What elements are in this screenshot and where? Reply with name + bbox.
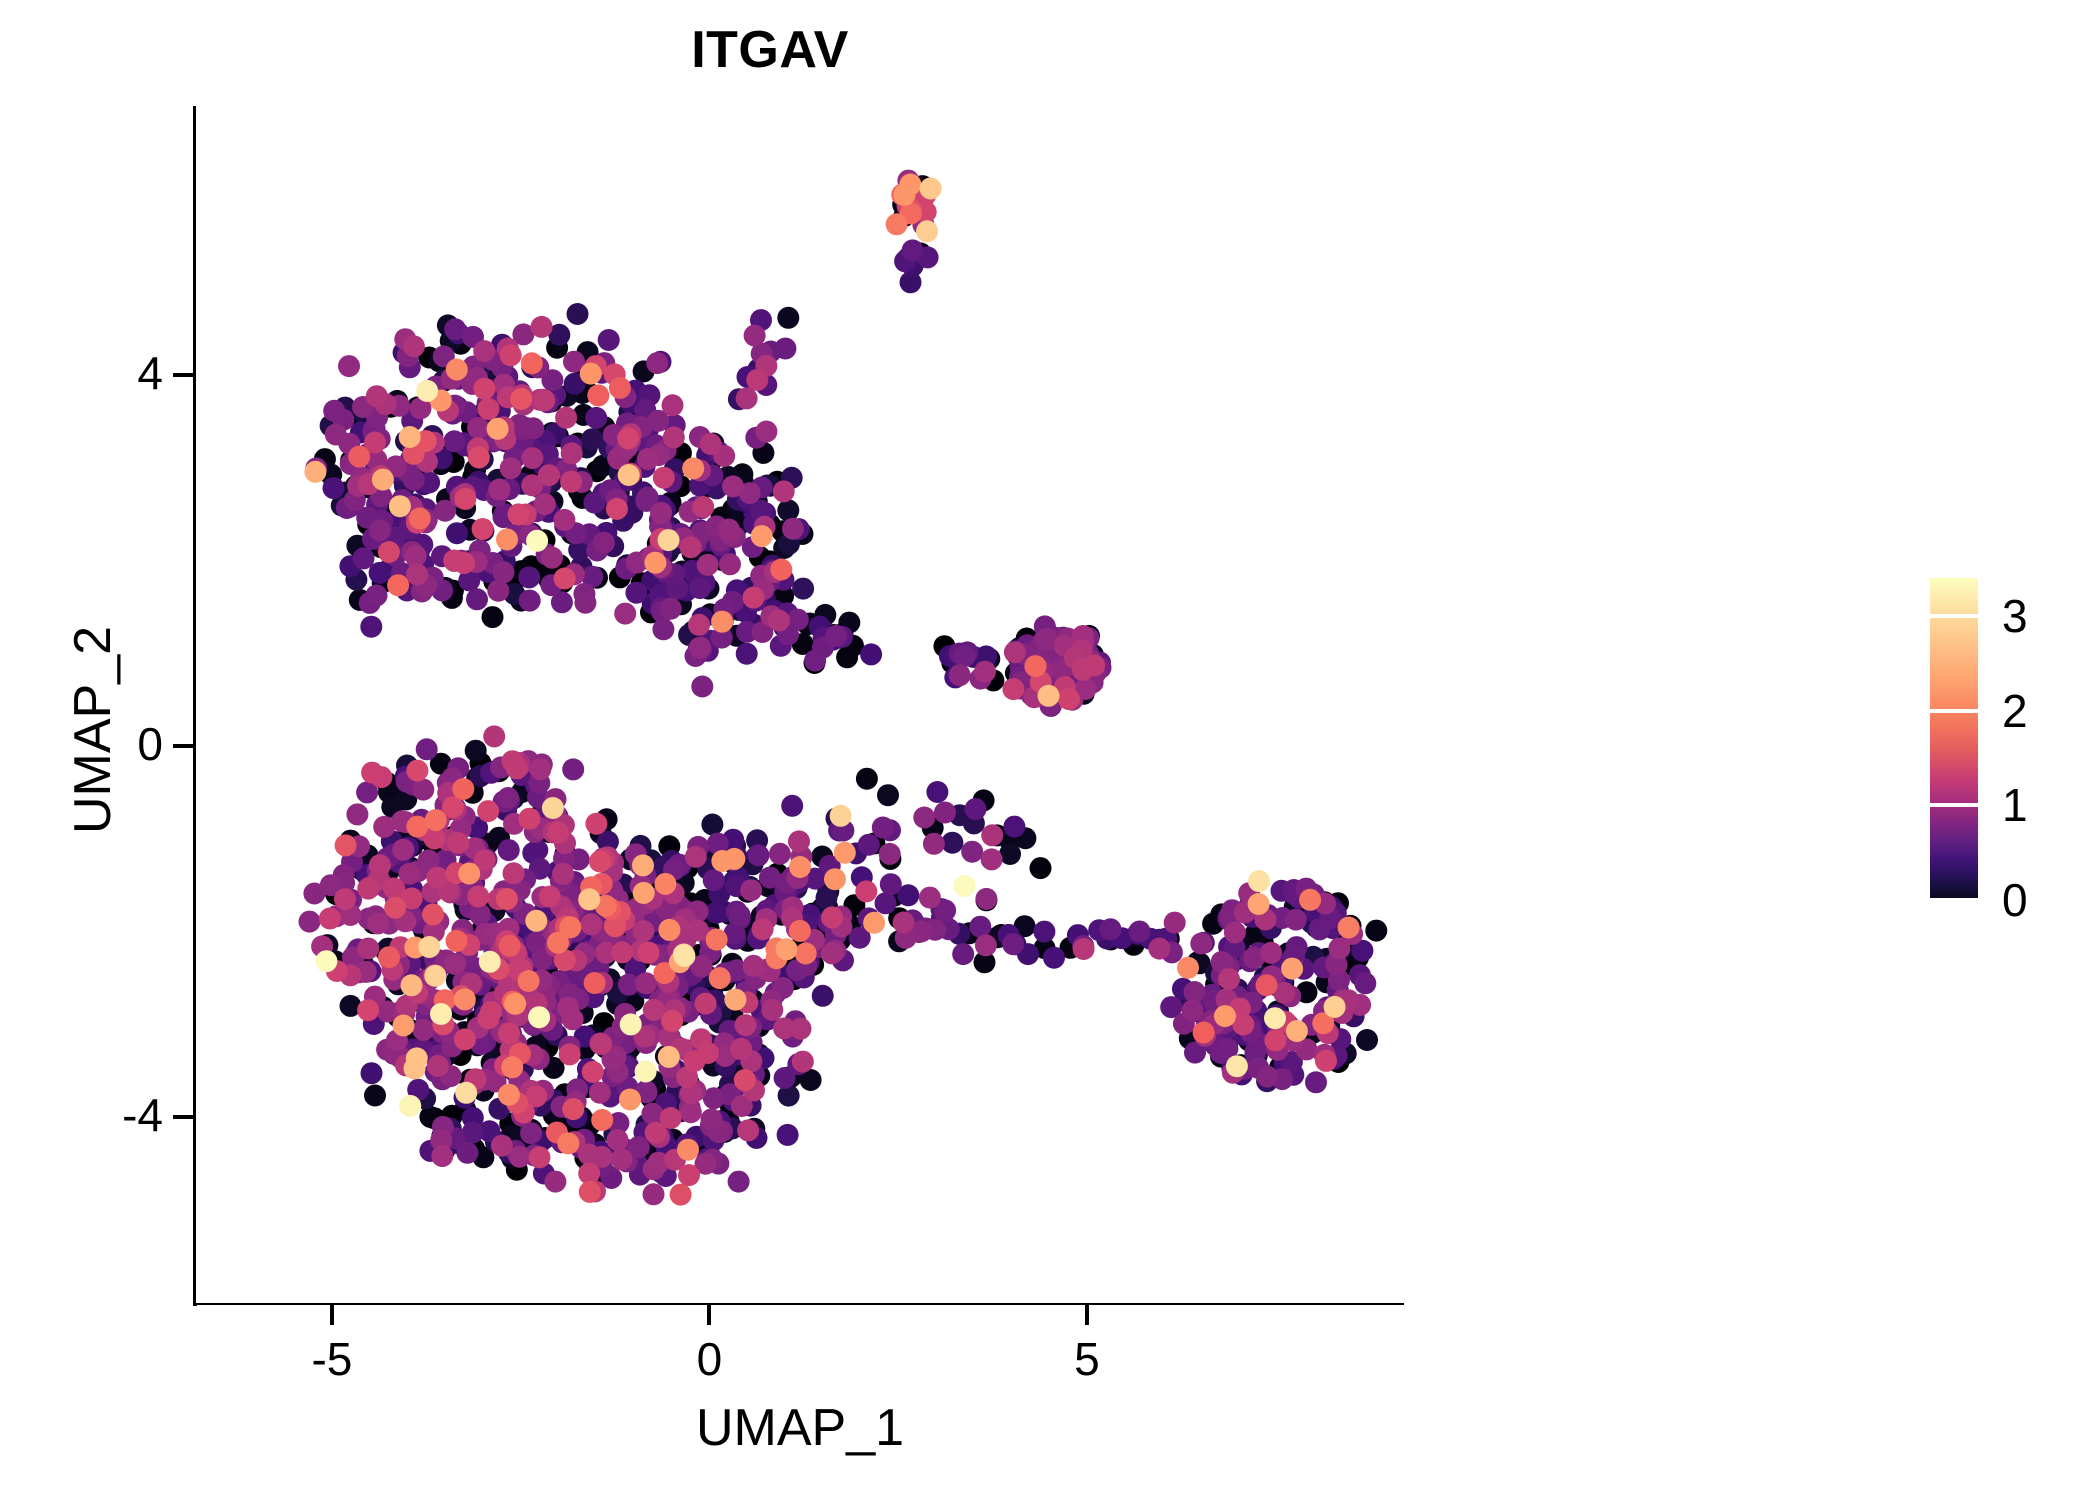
scatter-point (521, 352, 543, 374)
scatter-point (723, 848, 745, 870)
scatter-point (403, 335, 425, 357)
scatter-point (776, 938, 798, 960)
scatter-point (1025, 655, 1047, 677)
scatter-point (1264, 1029, 1286, 1051)
scatter-point (969, 916, 991, 938)
scatter-point (1305, 1071, 1327, 1093)
scatter-point (789, 856, 811, 878)
x-axis-title: UMAP_1 (196, 1398, 1404, 1458)
scatter-point (1256, 1066, 1278, 1088)
scatter-point (695, 993, 717, 1015)
scatter-point (547, 932, 569, 954)
scatter-point (975, 888, 997, 910)
scatter-point (830, 805, 852, 827)
scatter-point (974, 661, 996, 683)
scatter-point (743, 587, 765, 609)
scatter-point (1354, 972, 1376, 994)
scatter-point (1148, 938, 1170, 960)
scatter-point (504, 993, 526, 1015)
scatter-point (860, 643, 882, 665)
scatter-point (680, 536, 702, 558)
scatter-point (858, 834, 880, 856)
scatter-point (501, 1056, 523, 1078)
scatter-point (834, 842, 856, 864)
scatter-point (654, 873, 676, 895)
scatter-point (454, 988, 476, 1010)
scatter-point (1182, 1000, 1204, 1022)
scatter-point (488, 479, 510, 501)
scatter-point (635, 1061, 657, 1083)
scatter-point (361, 1062, 383, 1084)
scatter-point (466, 588, 488, 610)
scatter-point (863, 912, 885, 934)
scatter-point (606, 498, 628, 520)
scatter-point (361, 762, 383, 784)
scatter-point (1218, 968, 1240, 990)
scatter-point (618, 464, 640, 486)
scatter-point (689, 577, 711, 599)
scatter-point (1299, 889, 1321, 911)
scatter-point (378, 541, 400, 563)
y-axis-title: UMAP_2 (63, 330, 123, 1130)
scatter-point (401, 974, 423, 996)
scatter-point (458, 863, 480, 885)
scatter-point (1033, 921, 1055, 943)
scatter-point (692, 496, 714, 518)
scatter-point (353, 547, 375, 569)
scatter-point (1177, 957, 1199, 979)
scatter-point (1004, 641, 1026, 663)
legend-tick-label: 3 (2002, 589, 2028, 643)
scatter-point (334, 888, 356, 910)
legend-colorbar (1930, 578, 1978, 900)
scatter-point (585, 813, 607, 835)
scatter-point (541, 547, 563, 569)
scatter-point (443, 430, 465, 452)
scatter-point (663, 426, 685, 448)
scatter-point (646, 352, 668, 374)
scatter-point (498, 1084, 520, 1106)
scatter-point (416, 380, 438, 402)
scatter-point (562, 1008, 584, 1030)
scatter-point (684, 1050, 706, 1072)
scatter-point (1184, 981, 1206, 1003)
scatter-point (528, 1006, 550, 1028)
scatter-point (574, 592, 596, 614)
scatter-point (709, 967, 731, 989)
scatter-point (641, 1103, 663, 1125)
scatter-point (638, 942, 660, 964)
scatter-point (701, 814, 723, 836)
scatter-point (357, 878, 379, 900)
scatter-point (338, 355, 360, 377)
scatter-point (1073, 938, 1095, 960)
scatter-point (406, 760, 428, 782)
scatter-point (529, 758, 551, 780)
scatter-point (357, 938, 379, 960)
scatter-point (1356, 1029, 1378, 1051)
scatter-point (688, 614, 710, 636)
scatter-point (1038, 685, 1060, 707)
scatter-point (555, 407, 577, 429)
scatter-point (444, 953, 466, 975)
scatter-point (467, 417, 489, 439)
scatter-point (503, 862, 525, 884)
scatter-point (387, 574, 409, 596)
page-title: ITGAV (0, 20, 1540, 80)
scatter-point (617, 427, 639, 449)
scatter-point (1226, 1055, 1248, 1077)
scatter-point (567, 303, 589, 325)
scatter-point (587, 384, 609, 406)
scatter-point (529, 1146, 551, 1168)
scatter-point (730, 1038, 752, 1060)
scatter-point (719, 553, 741, 575)
scatter-point (409, 508, 431, 530)
scatter-point (589, 1082, 611, 1104)
scatter-point (886, 213, 908, 235)
scatter-point (399, 426, 421, 448)
scatter-point (557, 1132, 579, 1154)
scatter-point (477, 398, 499, 420)
scatter-point (579, 1181, 601, 1203)
scatter-point (773, 480, 795, 502)
scatter-point (611, 941, 633, 963)
scatter-point (372, 469, 394, 491)
scatter-point (658, 1046, 680, 1068)
scatter-point (1248, 870, 1270, 892)
scatter-point (795, 943, 817, 965)
scatter-point (625, 582, 647, 604)
scatter-point (418, 936, 440, 958)
scatter-point (711, 611, 733, 633)
scatter-point (473, 378, 495, 400)
scatter-point (542, 797, 564, 819)
scatter-point (682, 457, 704, 479)
color-legend: 3210 (1930, 570, 2090, 910)
scatter-point (697, 554, 719, 576)
scatter-point (744, 325, 766, 347)
scatter-point (920, 178, 942, 200)
scatter-point (1214, 1005, 1236, 1027)
x-tick-label: -5 (272, 1332, 392, 1386)
scatter-point (406, 1047, 428, 1069)
scatter-point (643, 999, 665, 1021)
scatter-point (360, 616, 382, 638)
scatter-point (559, 1043, 581, 1065)
scatter-point (788, 830, 810, 852)
scatter-point (325, 424, 347, 446)
scatter-point (703, 869, 725, 891)
scatter-point (422, 903, 444, 925)
scatter-point (453, 552, 475, 574)
scatter-point (824, 868, 846, 890)
scatter-point (1058, 688, 1080, 710)
scatter-point (1043, 947, 1065, 969)
scatter-point (499, 935, 521, 957)
scatter-point (425, 809, 447, 831)
scatter-point (467, 886, 489, 908)
scatter-point (582, 1061, 604, 1083)
scatter-point (479, 951, 501, 973)
scatter-point (736, 387, 758, 409)
scatter-point (949, 664, 971, 686)
scatter-point (526, 530, 548, 552)
plot-panel (196, 106, 1404, 1303)
scatter-point (812, 985, 834, 1007)
scatter-point (323, 400, 345, 422)
scatter-point (769, 843, 791, 865)
scatter-point (1256, 974, 1278, 996)
scatter-point (1164, 912, 1186, 934)
scatter-point (875, 892, 897, 914)
scatter-point (593, 532, 615, 554)
scatter-point (416, 738, 438, 760)
scatter-point (777, 1124, 799, 1146)
x-tick-mark (330, 1305, 334, 1325)
scatter-point (916, 220, 938, 242)
scatter-point (761, 999, 783, 1021)
scatter-point (662, 394, 684, 416)
scatter-point (691, 676, 713, 698)
scatter-point (755, 421, 777, 443)
scatter-point (589, 851, 611, 873)
scatter-point (430, 1003, 452, 1025)
scatter-point (496, 888, 518, 910)
scatter-point (790, 1018, 812, 1040)
scatter-point (872, 817, 894, 839)
scatter-point (787, 609, 809, 631)
scatter-point (923, 833, 945, 855)
scatter-point (965, 798, 987, 820)
scatter-point (792, 578, 814, 600)
scatter-point (496, 529, 518, 551)
scatter-point (472, 518, 494, 540)
scatter-point (1003, 816, 1025, 838)
scatter-point (521, 447, 543, 469)
scatter-point (1324, 996, 1346, 1018)
scatter-point (743, 955, 765, 977)
scatter-point (643, 1183, 665, 1205)
scatter-point (954, 875, 976, 897)
scatter-point (658, 919, 680, 941)
scatter-point (746, 369, 768, 391)
scatter-point (412, 779, 434, 801)
legend-tick-label: 0 (2002, 873, 2028, 927)
scatter-point (1224, 921, 1246, 943)
scatter-point (498, 839, 520, 861)
scatter-point (369, 519, 391, 541)
scatter-point (880, 873, 902, 895)
scatter-point (952, 943, 974, 965)
scatter-point (770, 559, 792, 581)
scatter-point (877, 784, 899, 806)
scatter-point (591, 1109, 613, 1131)
scatter-point (782, 518, 804, 540)
scatter-point (497, 787, 519, 809)
scatter-point (1002, 933, 1024, 955)
scatter-point (357, 999, 379, 1021)
scatter-point (346, 803, 368, 825)
scatter-point (454, 1028, 476, 1050)
scatter-point (961, 841, 983, 863)
scatter-point (632, 920, 654, 942)
scatter-point (1193, 1022, 1215, 1044)
scatter-point (482, 606, 504, 628)
scatter-point (1328, 937, 1350, 959)
scatter-point (519, 590, 541, 612)
scatter-point (560, 471, 582, 493)
scatter-point (1338, 917, 1360, 939)
scatter-point (1315, 1050, 1337, 1072)
scatter-point (348, 446, 370, 468)
scatter-point (498, 1022, 520, 1044)
scatter-point (975, 934, 997, 956)
scatter-point (752, 918, 774, 940)
scatter-point (477, 1007, 499, 1029)
scatter-point (856, 768, 878, 790)
scatter-point (661, 1010, 683, 1032)
scatter-point (737, 1119, 759, 1141)
scatter-point (607, 1129, 629, 1151)
scatter-point (424, 965, 446, 987)
legend-tick-mark (1930, 898, 1978, 902)
scatter-point (722, 475, 744, 497)
scatter-point (447, 832, 469, 854)
scatter-point (539, 886, 561, 908)
scatter-points-layer (196, 106, 1404, 1303)
scatter-point (1285, 909, 1307, 931)
scatter-point (518, 808, 540, 830)
scatter-point (553, 509, 575, 531)
scatter-point (689, 637, 711, 659)
x-tick-mark (1085, 1305, 1089, 1325)
scatter-point (1083, 654, 1105, 676)
scatter-point (1002, 678, 1024, 700)
scatter-point (718, 519, 740, 541)
scatter-point (500, 344, 522, 366)
scatter-point (477, 800, 499, 822)
scatter-point (777, 499, 799, 521)
scatter-point (652, 618, 674, 640)
scatter-point (366, 385, 388, 407)
scatter-point (619, 1089, 641, 1111)
scatter-point (728, 1171, 750, 1193)
scatter-point (319, 908, 341, 930)
scatter-point (500, 457, 522, 479)
scatter-point (1129, 921, 1151, 943)
scatter-point (508, 503, 530, 525)
scatter-point (650, 502, 672, 524)
x-tick-label: 0 (649, 1332, 769, 1386)
scatter-point (777, 307, 799, 329)
scatter-point (687, 919, 709, 941)
scatter-point (366, 584, 388, 606)
scatter-point (1365, 920, 1387, 942)
scatter-point (685, 846, 707, 868)
legend-tick-mark (1930, 803, 1978, 807)
scatter-point (734, 1069, 756, 1091)
scatter-point (378, 946, 400, 968)
y-tick-mark (173, 1115, 193, 1119)
scatter-point (747, 844, 769, 866)
scatter-point (427, 1055, 449, 1077)
scatter-point (736, 643, 758, 665)
y-tick-mark (173, 744, 193, 748)
scatter-point (768, 610, 790, 632)
scatter-point (561, 442, 583, 464)
scatter-point (468, 446, 490, 468)
scatter-point (740, 879, 762, 901)
scatter-point (1030, 857, 1052, 879)
scatter-point (531, 316, 553, 338)
scatter-point (792, 1051, 814, 1073)
scatter-point (578, 888, 600, 910)
scatter-point (590, 1033, 612, 1055)
scatter-point (645, 1122, 667, 1144)
scatter-point (1248, 893, 1270, 915)
scatter-point (680, 1101, 702, 1123)
scatter-point (538, 464, 560, 486)
scatter-point (893, 912, 915, 934)
scatter-point (446, 930, 468, 952)
scatter-point (552, 863, 574, 885)
scatter-point (384, 897, 406, 919)
scatter-point (399, 1095, 421, 1117)
scatter-point (705, 902, 727, 924)
scatter-point (821, 906, 843, 928)
scatter-point (534, 493, 556, 515)
scatter-point (611, 1148, 633, 1170)
scatter-point (926, 781, 948, 803)
scatter-point (487, 418, 509, 440)
scatter-point (632, 854, 654, 876)
scatter-point (483, 725, 505, 747)
scatter-point (954, 645, 976, 667)
scatter-point (981, 848, 1003, 870)
scatter-point (633, 882, 655, 904)
scatter-point (389, 495, 411, 517)
scatter-point (735, 1014, 757, 1036)
scatter-point (1190, 933, 1212, 955)
scatter-point (533, 389, 555, 411)
scatter-point (335, 834, 357, 856)
scatter-point (700, 433, 722, 455)
scatter-point (919, 887, 941, 909)
scatter-point (299, 911, 321, 933)
scatter-point (446, 359, 468, 381)
scatter-point (367, 912, 389, 934)
legend-tick-label: 2 (2002, 684, 2028, 738)
scatter-point (724, 989, 746, 1011)
scatter-point (706, 929, 728, 951)
scatter-point (393, 1015, 415, 1037)
scatter-point (452, 778, 474, 800)
scatter-point (620, 1013, 642, 1035)
scatter-point (580, 913, 602, 935)
scatter-point (506, 757, 528, 779)
scatter-point (412, 1019, 434, 1041)
scatter-point (855, 880, 877, 902)
scatter-point (465, 740, 487, 762)
scatter-point (510, 388, 532, 410)
scatter-point (369, 854, 391, 876)
scatter-point (491, 1135, 513, 1157)
scatter-point (473, 340, 495, 362)
scatter-point (562, 1098, 584, 1120)
scatter-point (902, 239, 924, 261)
legend-tick-mark (1930, 709, 1978, 713)
